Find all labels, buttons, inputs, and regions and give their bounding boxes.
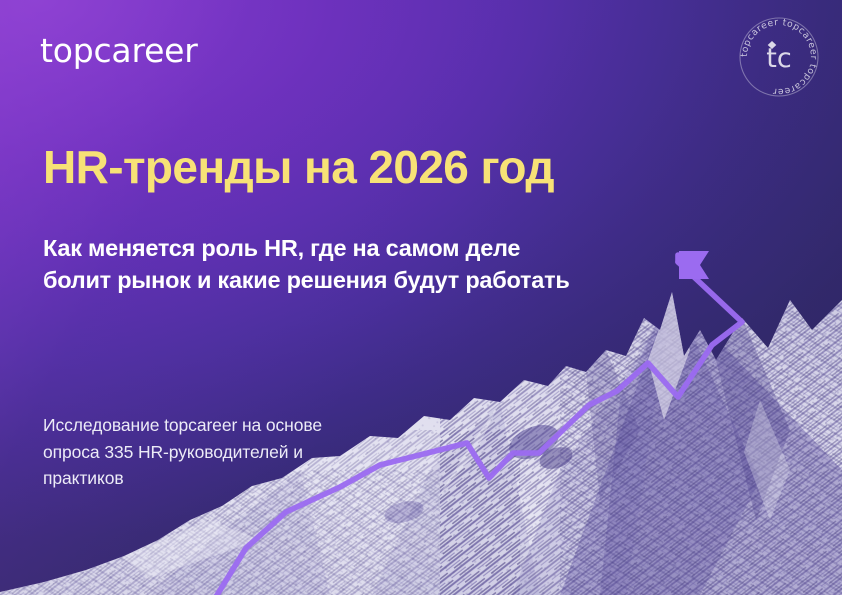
page-title: HR-тренды на 2026 год — [43, 143, 554, 193]
subtitle-line-2: болит рынок и какие решения будут работа… — [43, 264, 570, 296]
subtitle-line-1: Как меняется роль HR, где на самом деле — [43, 232, 570, 264]
topcareer-circular-badge: topcareer topcareer topcareer tc — [733, 11, 825, 103]
badge-monogram: tc — [766, 41, 791, 74]
topcareer-logo[interactable]: topcareer — [40, 34, 198, 67]
poster-canvas: topcareer topcareer topcareer topcareer … — [0, 0, 842, 595]
svg-text:tc: tc — [766, 43, 791, 74]
footnote-line-2: опроса 335 HR-руководителей и — [43, 439, 322, 466]
page-subtitle: Как меняется роль HR, где на самом деле … — [43, 232, 570, 297]
study-source-note: Исследование topcareer на основе опроса … — [43, 412, 322, 492]
poster-content: topcareer topcareer topcareer topcareer … — [0, 0, 842, 595]
footnote-line-1: Исследование topcareer на основе — [43, 412, 322, 439]
footnote-line-3: практиков — [43, 465, 322, 492]
